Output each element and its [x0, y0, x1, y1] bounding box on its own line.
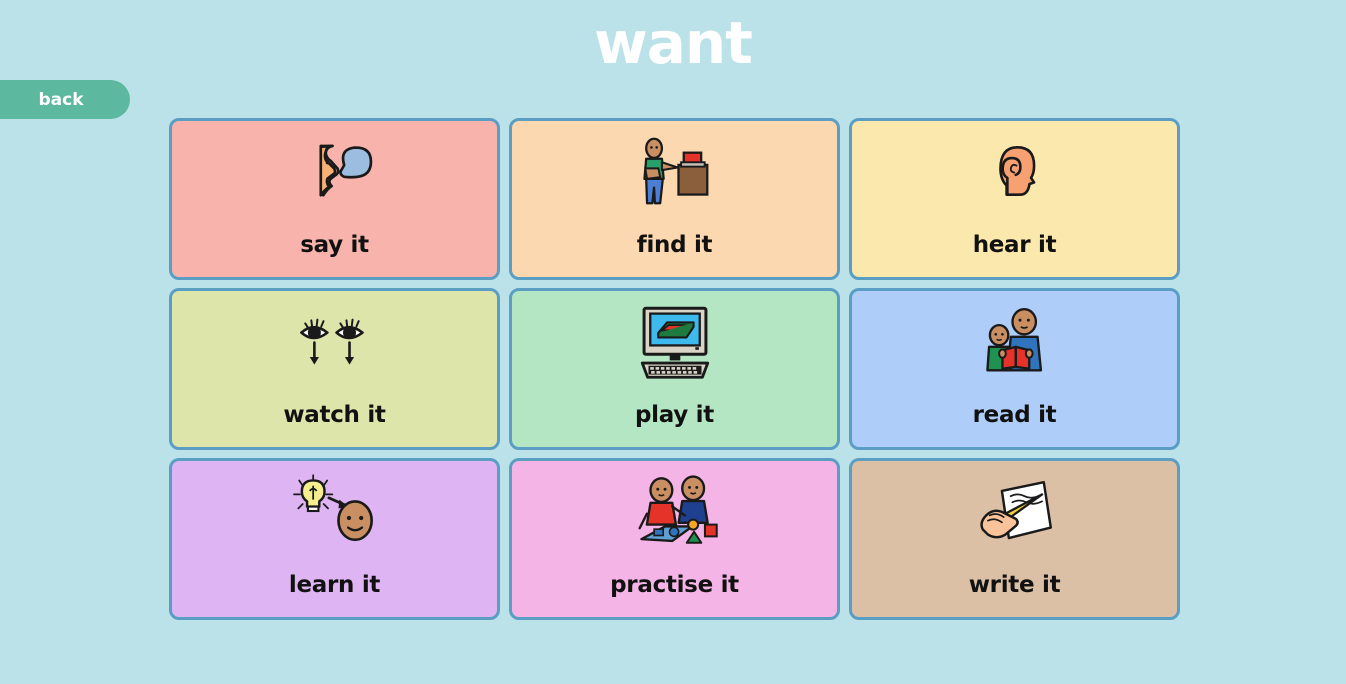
hand-writing-icon: [960, 468, 1070, 554]
eyes-looking-down-icon: [280, 298, 390, 384]
lightbulb-to-head-icon: [280, 468, 390, 554]
speaking-face-icon: [280, 128, 390, 214]
card-label: play it: [512, 402, 837, 428]
computer-icon: [620, 298, 730, 384]
card-watch-it[interactable]: watch it: [169, 288, 500, 450]
card-practise-it[interactable]: practise it: [509, 458, 840, 620]
card-label: say it: [172, 232, 497, 258]
card-label: hear it: [852, 232, 1177, 258]
card-learn-it[interactable]: learn it: [169, 458, 500, 620]
two-people-reading-icon: [960, 298, 1070, 384]
person-pointing-icon: [620, 128, 730, 214]
ear-head-icon: [960, 128, 1070, 214]
card-hear-it[interactable]: hear it: [849, 118, 1180, 280]
card-label: read it: [852, 402, 1177, 428]
card-label: write it: [852, 572, 1177, 598]
card-write-it[interactable]: write it: [849, 458, 1180, 620]
children-playing-shapes-icon: [620, 468, 730, 554]
card-read-it[interactable]: read it: [849, 288, 1180, 450]
activity-card-grid: say it find it: [169, 118, 1181, 620]
card-play-it[interactable]: play it: [509, 288, 840, 450]
card-say-it[interactable]: say it: [169, 118, 500, 280]
card-find-it[interactable]: find it: [509, 118, 840, 280]
card-label: watch it: [172, 402, 497, 428]
page-title: want: [0, 14, 1346, 72]
card-label: learn it: [172, 572, 497, 598]
card-label: find it: [512, 232, 837, 258]
card-label: practise it: [512, 572, 837, 598]
back-button[interactable]: back: [0, 80, 130, 119]
